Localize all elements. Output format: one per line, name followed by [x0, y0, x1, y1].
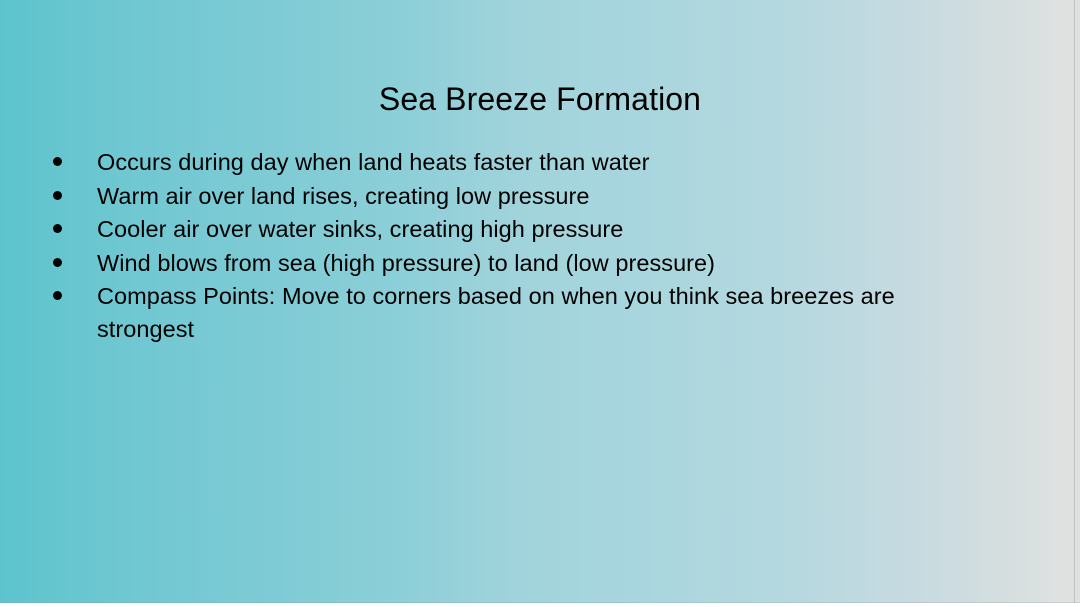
bullet-disc-icon — [53, 258, 62, 267]
bullet-item-label: Cooler air over water sinks, creating hi… — [97, 213, 902, 246]
bullet-item-label: Warm air over land rises, creating low p… — [97, 180, 902, 213]
bullet-item: Occurs during day when land heats faster… — [42, 146, 902, 179]
bullet-disc-icon — [53, 157, 62, 166]
slide-title: Sea Breeze Formation — [0, 78, 1080, 120]
bullet-item: Warm air over land rises, creating low p… — [42, 180, 902, 213]
bullet-item: Compass Points: Move to corners based on… — [42, 280, 902, 345]
bullet-item-label: Occurs during day when land heats faster… — [97, 146, 902, 179]
bullet-disc-icon — [53, 191, 62, 200]
bullet-disc-icon — [53, 291, 62, 300]
bullet-item-label: Compass Points: Move to corners based on… — [97, 280, 902, 345]
slide-bottom-border — [0, 602, 1080, 603]
bullet-disc-icon — [53, 224, 62, 233]
bullet-item: Wind blows from sea (high pressure) to l… — [42, 247, 902, 280]
bullet-item: Cooler air over water sinks, creating hi… — [42, 213, 902, 246]
bullet-item-label: Wind blows from sea (high pressure) to l… — [97, 247, 902, 280]
presentation-slide: Sea Breeze Formation Occurs during day w… — [0, 0, 1080, 603]
slide-bullet-list: Occurs during day when land heats faster… — [42, 146, 902, 346]
